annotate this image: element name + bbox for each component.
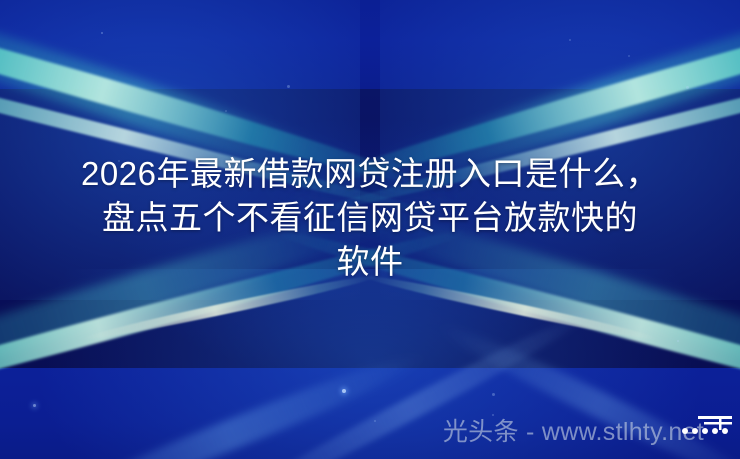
banner-headline: 2026年最新借款网贷注册入口是什么， 盘点五个不看征信网贷平台放款快的 软件 xyxy=(0,152,740,284)
site-watermark: 光头条 - www.stlhty.net xyxy=(443,417,704,447)
promo-banner: 2026年最新借款网贷注册入口是什么， 盘点五个不看征信网贷平台放款快的 软件 … xyxy=(0,0,740,459)
watermark-logo-icon xyxy=(682,415,738,443)
background-band-top xyxy=(0,0,740,89)
